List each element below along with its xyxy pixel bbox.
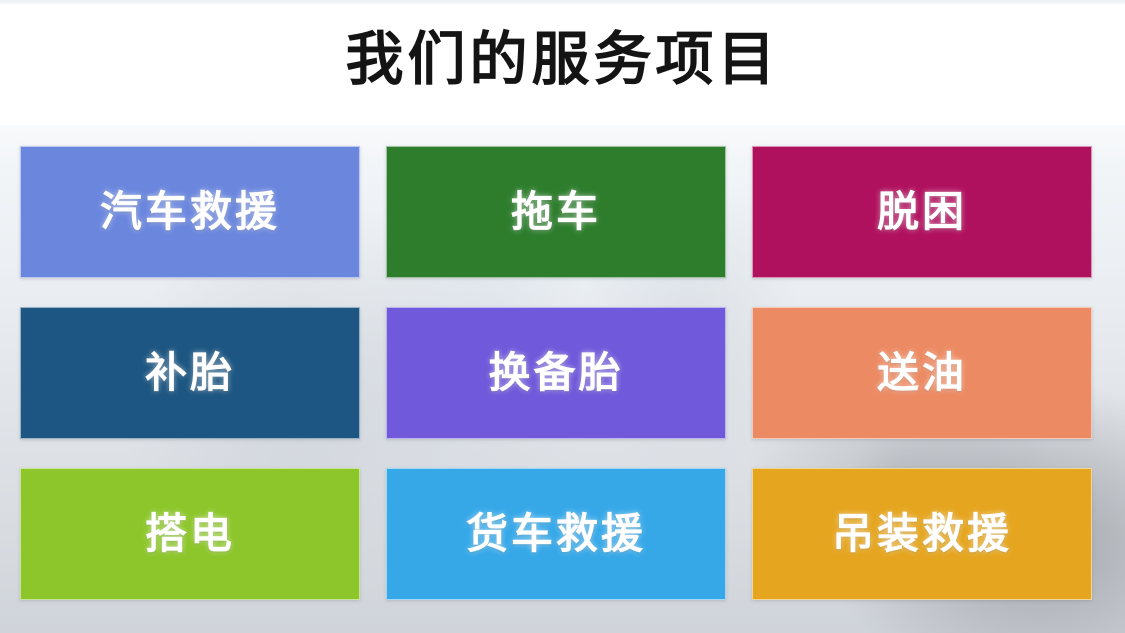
service-tile-tire-repair[interactable]: 补胎 <box>20 307 360 439</box>
service-tile-label: 脱困 <box>877 188 967 236</box>
service-list-slide: 我们的服务项目 汽车救援 拖车 脱困 补胎 换备胎 送油 搭电 货车救援 吊装救… <box>0 0 1125 633</box>
service-tile-jump-start[interactable]: 搭电 <box>20 468 360 600</box>
service-tile-fuel-delivery[interactable]: 送油 <box>752 307 1092 439</box>
page-title: 我们的服务项目 <box>0 24 1125 94</box>
service-tile-label: 吊装救援 <box>832 510 1012 558</box>
service-tile-spare-tire-change[interactable]: 换备胎 <box>386 307 726 439</box>
service-tile-label: 汽车救援 <box>100 188 280 236</box>
service-tile-extrication[interactable]: 脱困 <box>752 146 1092 278</box>
service-tile-label: 换备胎 <box>488 349 623 397</box>
service-tile-car-rescue[interactable]: 汽车救援 <box>20 146 360 278</box>
service-tile-truck-rescue[interactable]: 货车救援 <box>386 468 726 600</box>
service-tile-label: 搭电 <box>145 510 235 558</box>
service-tile-tow-truck[interactable]: 拖车 <box>386 146 726 278</box>
service-tile-crane-hoist-rescue[interactable]: 吊装救援 <box>752 468 1092 600</box>
service-tile-label: 拖车 <box>511 188 601 236</box>
services-grid: 汽车救援 拖车 脱困 补胎 换备胎 送油 搭电 货车救援 吊装救援 <box>20 146 1092 600</box>
service-tile-label: 送油 <box>877 349 967 397</box>
service-tile-label: 货车救援 <box>466 510 646 558</box>
service-tile-label: 补胎 <box>145 349 235 397</box>
